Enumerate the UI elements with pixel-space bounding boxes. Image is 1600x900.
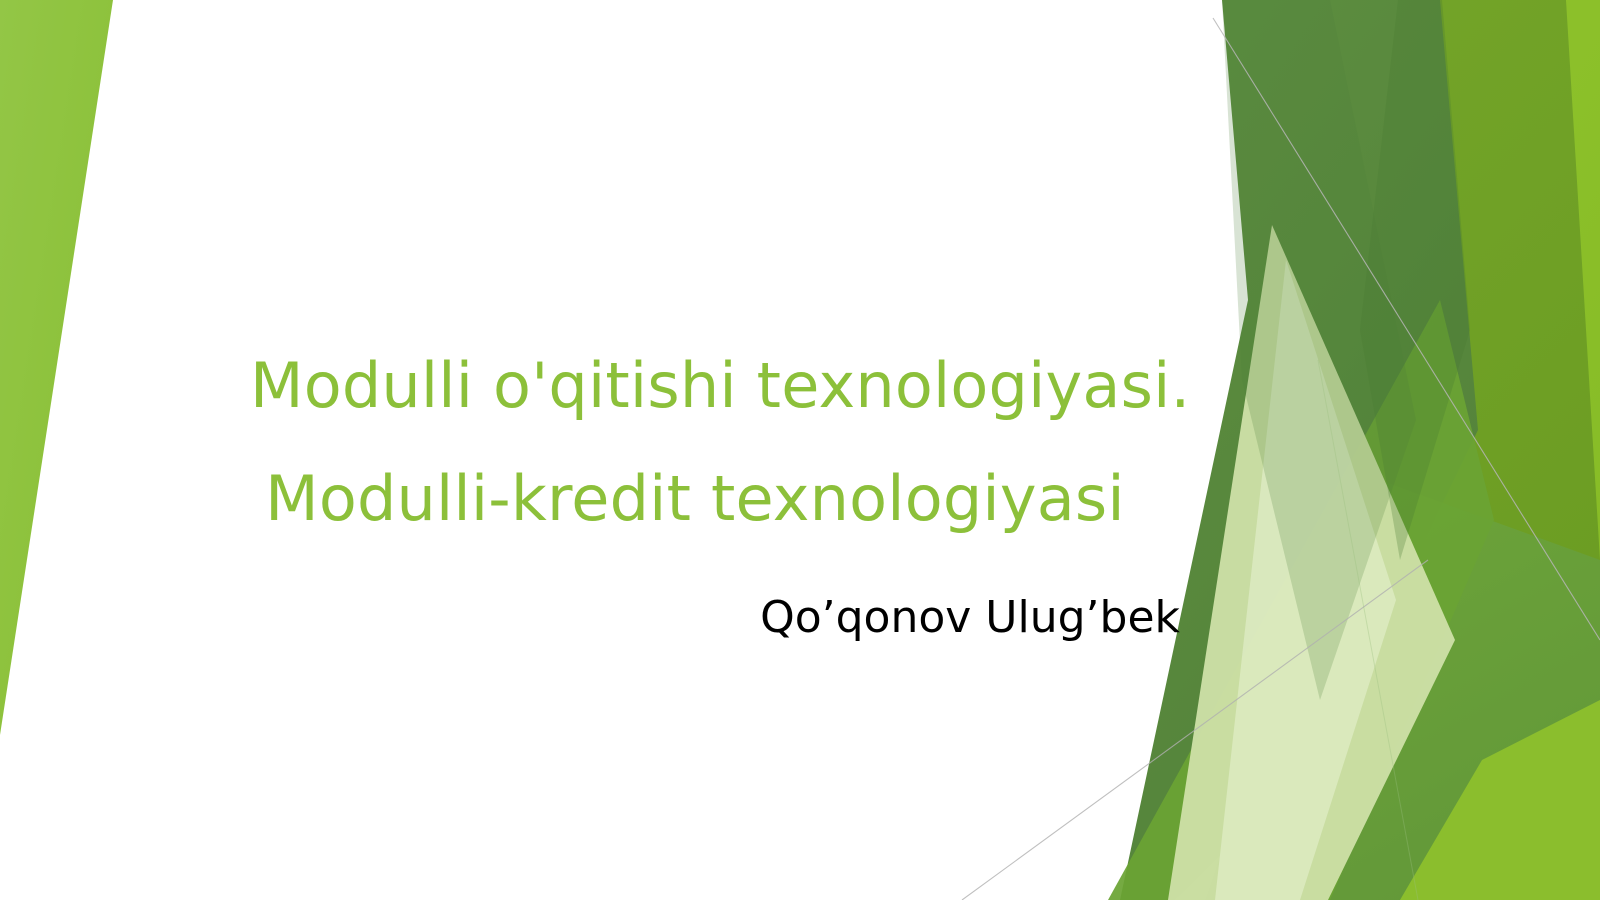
slide-title: Modulli o'qitishi texnologiyasi. Modulli… [250, 330, 1140, 556]
title-line-1: Modulli o'qitishi texnologiyasi. [250, 330, 1140, 443]
slide-subtitle: Qo’qonov Ulug’bek [390, 592, 1180, 645]
title-line-2: Modulli-kredit texnologiyasi [250, 443, 1140, 556]
presentation-slide: Modulli o'qitishi texnologiyasi. Modulli… [0, 0, 1600, 900]
subtitle-author: Qo’qonov Ulug’bek [390, 592, 1180, 645]
slide-content: Modulli o'qitishi texnologiyasi. Modulli… [0, 0, 1600, 900]
